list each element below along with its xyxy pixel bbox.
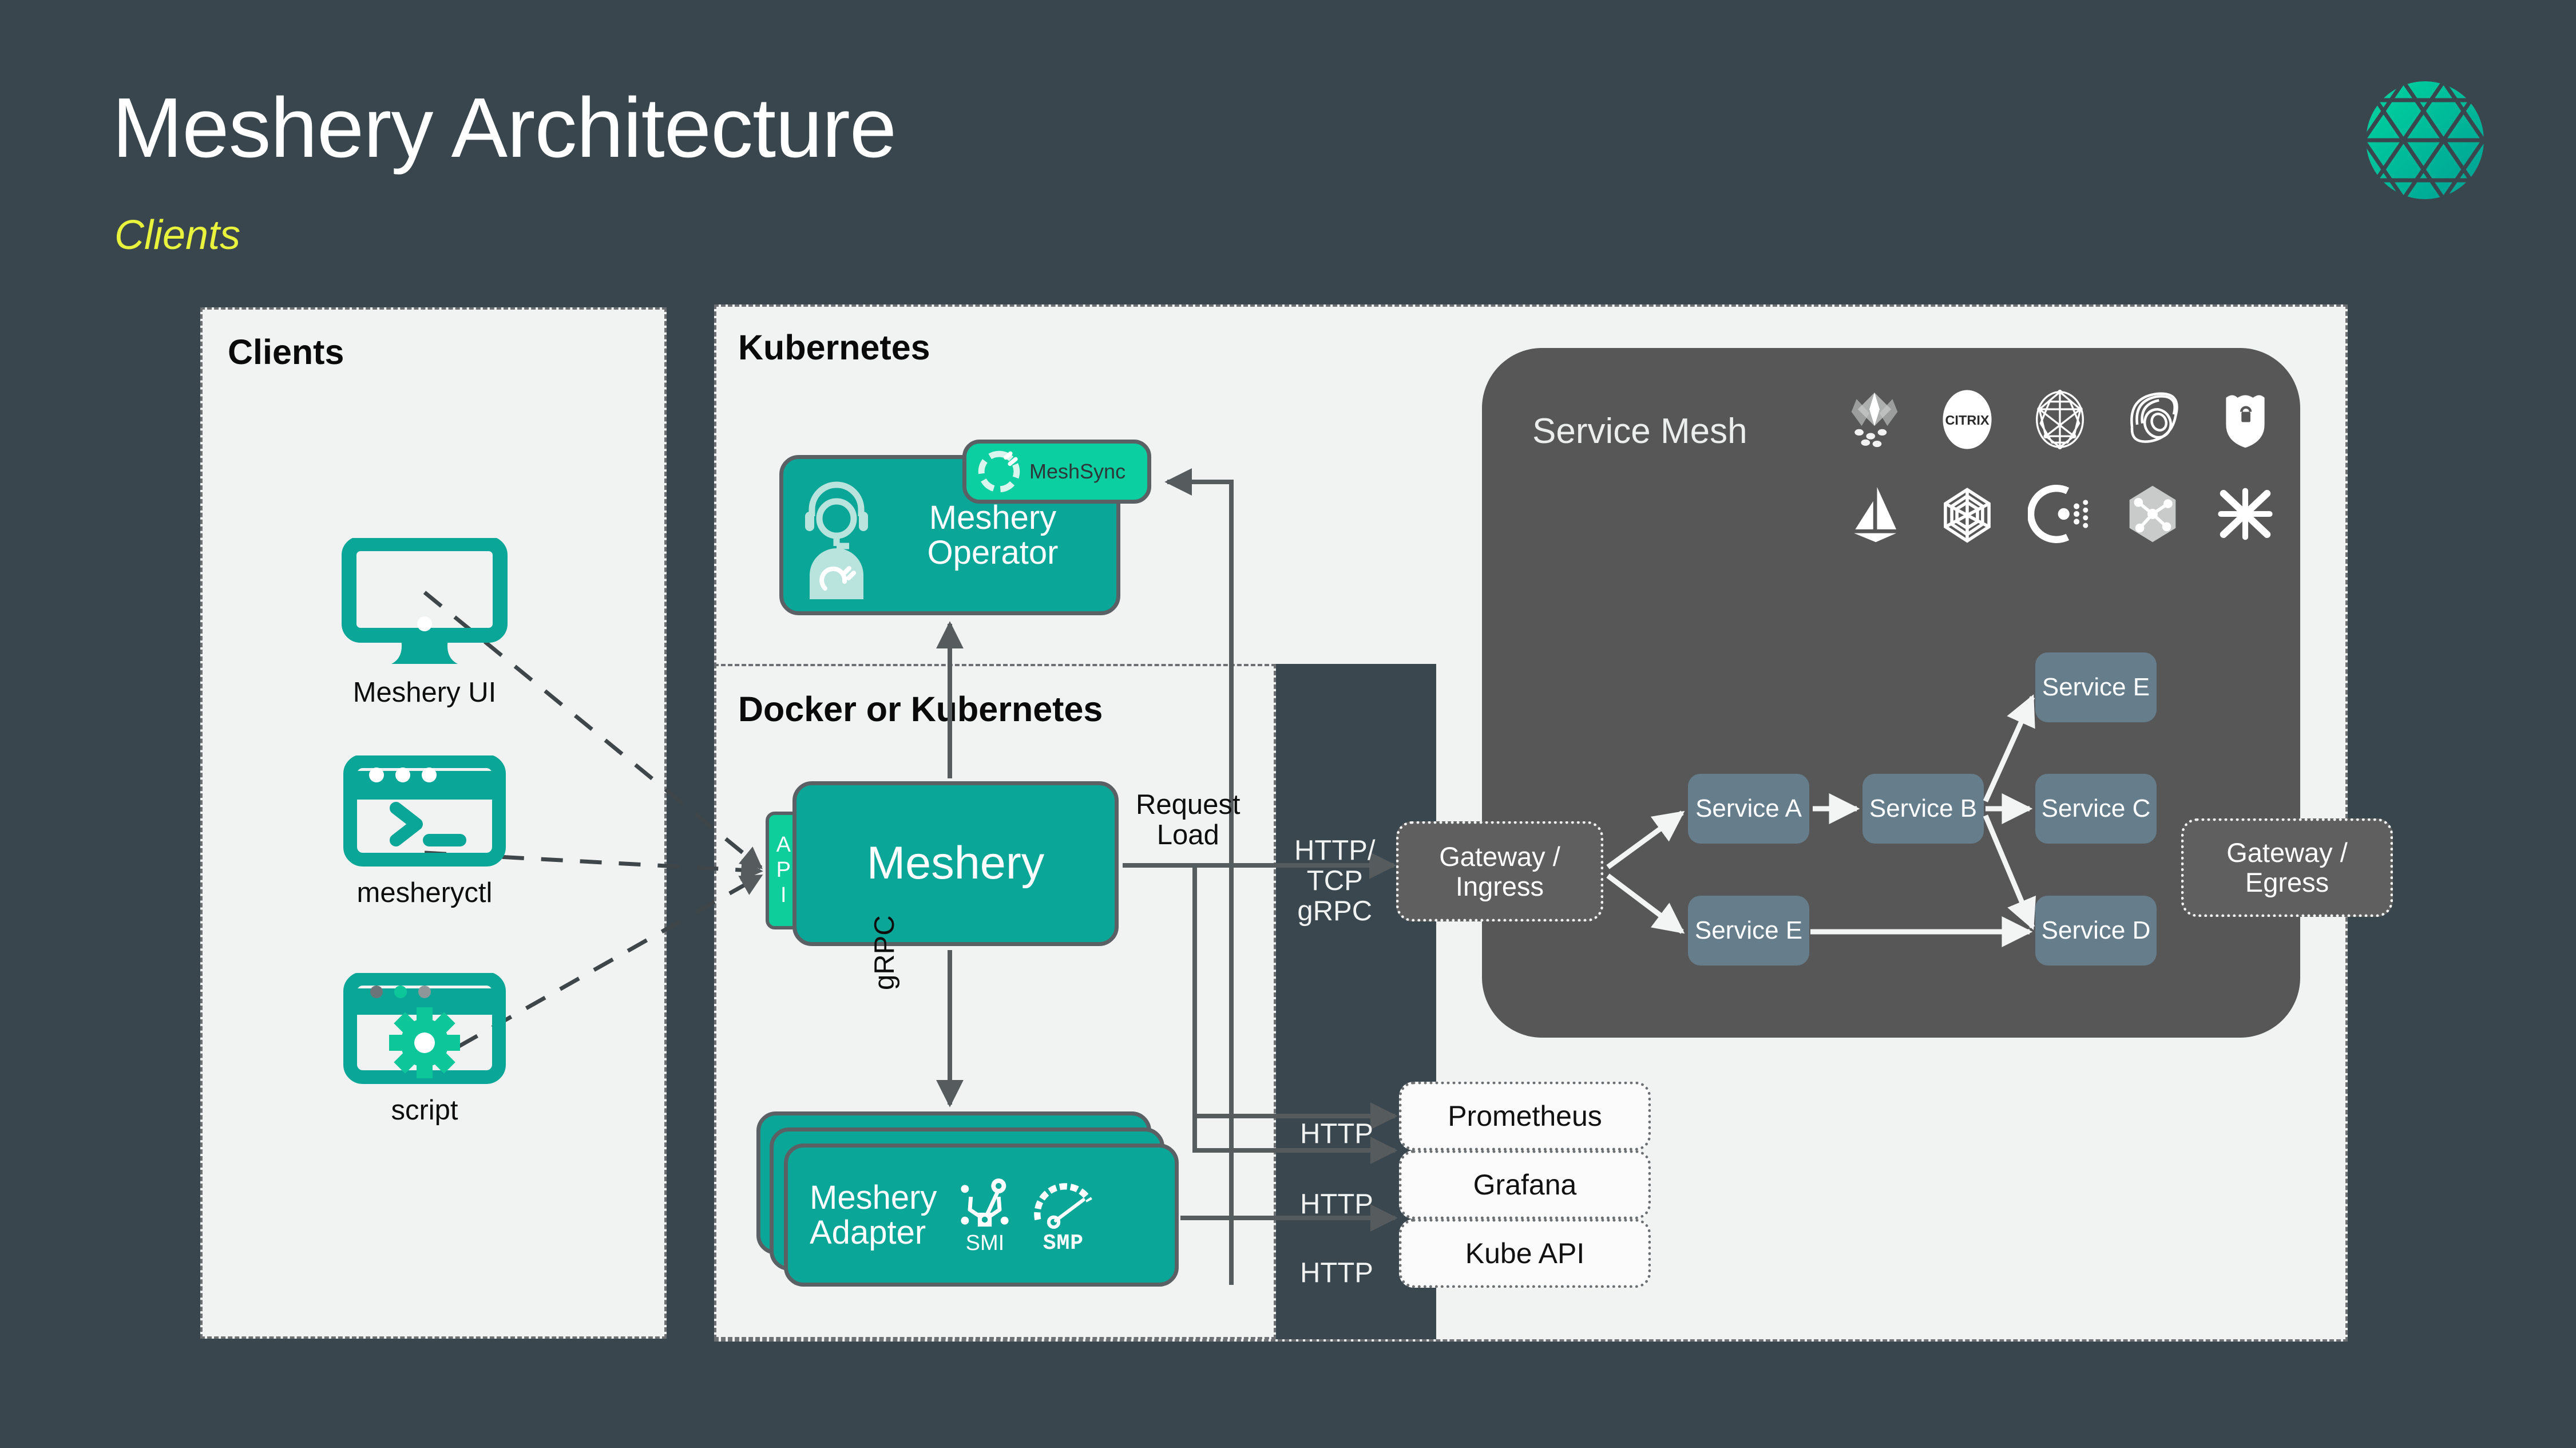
service-node-e-bottom[interactable]: Service E: [1688, 896, 1809, 966]
clients-panel-title: Clients: [228, 332, 344, 372]
edge-label-http-3: HTTP: [1300, 1258, 1373, 1288]
meshery-adapter-box[interactable]: Meshery Adapter SMI SMP: [784, 1144, 1179, 1287]
kubernetes-panel-title: Kubernetes: [738, 327, 930, 367]
support-agent-icon: [799, 476, 874, 602]
docker-panel-title: Docker or Kubernetes: [738, 689, 1103, 729]
gateway-ingress-node[interactable]: Gateway / Ingress: [1396, 821, 1603, 921]
kuma-icon: [2028, 387, 2092, 452]
page-title: Meshery Architecture: [112, 86, 896, 171]
smp-caption: SMP: [1043, 1231, 1084, 1256]
terminal-prompt-icon: [339, 755, 510, 870]
nginx-mesh-icon: [1935, 482, 1999, 546]
meshsync-label: MeshSync: [1029, 460, 1125, 484]
service-node-d[interactable]: Service D: [2035, 896, 2157, 966]
client-script[interactable]: script: [339, 973, 510, 1125]
service-node-a[interactable]: Service A: [1688, 774, 1809, 844]
service-node-b[interactable]: Service B: [1862, 774, 1984, 844]
smi-icon: [955, 1175, 1014, 1235]
meshery-label: Meshery: [867, 839, 1045, 888]
meshery-operator-label: Meshery Operator: [928, 500, 1059, 571]
service-label: Service B: [1869, 794, 1977, 823]
consul-icon: [1842, 387, 1907, 452]
meshsync-badge[interactable]: MeshSync: [962, 440, 1151, 504]
client-label: Meshery UI: [339, 678, 510, 707]
service-node-c[interactable]: Service C: [2035, 774, 2157, 844]
client-meshery-ui[interactable]: Meshery UI: [339, 538, 510, 707]
service-mesh-title: Service Mesh: [1532, 411, 1747, 452]
gateway-egress-node[interactable]: Gateway / Egress: [2181, 818, 2393, 917]
network-service-mesh-icon: [2121, 482, 2185, 546]
page-subtitle: Clients: [114, 215, 240, 256]
gateway-ingress-label: Gateway / Ingress: [1439, 842, 1560, 901]
meshery-adapter-label: Meshery Adapter: [810, 1180, 937, 1251]
client-mesheryctl[interactable]: mesheryctl: [339, 755, 510, 908]
smp-icon: [1031, 1175, 1096, 1235]
box-label: Prometheus: [1448, 1099, 1602, 1133]
citrix-icon: CITRIX: [1935, 387, 1999, 452]
edge-label-http-tcp-grpc: HTTP/ TCP gRPC: [1294, 836, 1376, 927]
edge-label-request-load: Request Load: [1136, 790, 1241, 850]
api-tab-label: API: [771, 833, 796, 908]
service-label: Service E: [2042, 673, 2150, 702]
service-label: Service E: [1695, 916, 1802, 945]
meshery-box[interactable]: Meshery: [792, 781, 1119, 946]
service-label: Service A: [1695, 794, 1802, 823]
edge-label-grpc: gRPC: [870, 915, 900, 990]
svg-text:CITRIX: CITRIX: [1945, 412, 1989, 427]
traefik-mesh-icon: [2213, 482, 2277, 546]
meshery-logo-icon: [2365, 80, 2485, 200]
istio-icon: [1842, 482, 1907, 546]
service-label: Service D: [2042, 916, 2151, 945]
gateway-egress-label: Gateway / Egress: [2226, 838, 2348, 897]
linkerd-icon: [2121, 387, 2185, 452]
terminal-gear-icon: [339, 973, 510, 1087]
prometheus-box[interactable]: Prometheus: [1399, 1082, 1651, 1150]
sync-circle-icon: [977, 449, 1021, 494]
service-mesh-logo-grid: CITRIX: [1828, 372, 2292, 561]
box-label: Grafana: [1473, 1168, 1577, 1201]
client-label: script: [339, 1096, 510, 1125]
box-label: Kube API: [1465, 1237, 1585, 1270]
edge-label-http-1: HTTP: [1300, 1119, 1373, 1149]
grafana-box[interactable]: Grafana: [1399, 1150, 1651, 1219]
monitor-icon: [339, 538, 510, 670]
app-mesh-icon: [2213, 387, 2277, 452]
open-service-mesh-icon: [2028, 482, 2092, 546]
edge-label-http-2: HTTP: [1300, 1189, 1373, 1220]
service-node-e-top[interactable]: Service E: [2035, 652, 2157, 722]
smi-caption: SMI: [966, 1231, 1005, 1256]
kube-api-box[interactable]: Kube API: [1399, 1219, 1651, 1288]
service-label: Service C: [2042, 794, 2151, 823]
client-label: mesheryctl: [339, 879, 510, 908]
